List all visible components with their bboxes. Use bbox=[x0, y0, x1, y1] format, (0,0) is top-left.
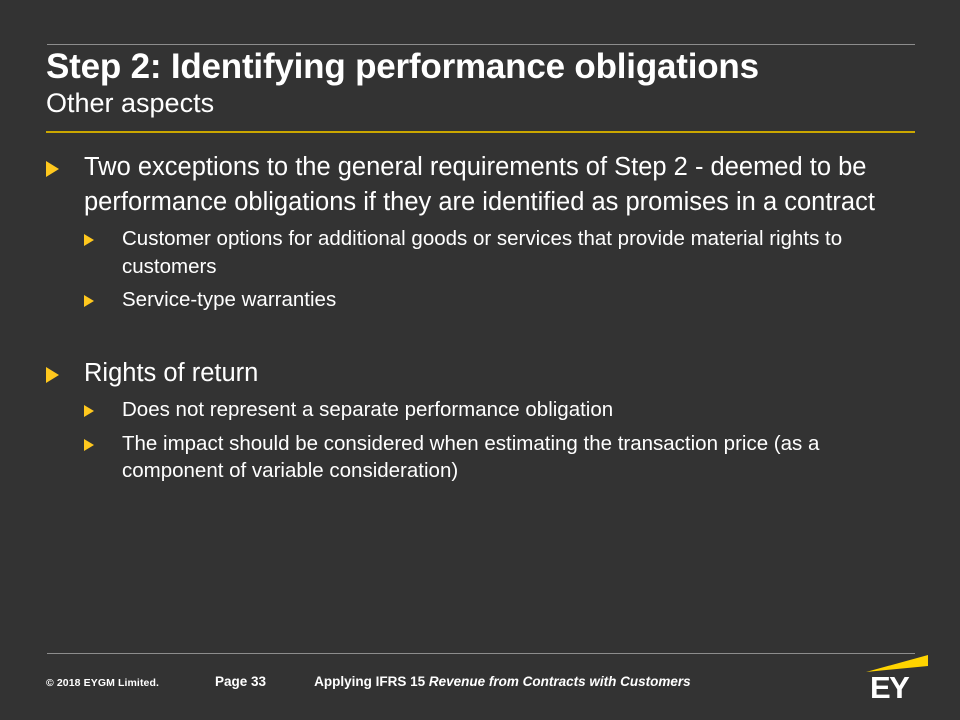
title-block: Step 2: Identifying performance obligati… bbox=[46, 48, 926, 120]
bullet-marker-wrap bbox=[84, 430, 122, 451]
slide: Step 2: Identifying performance obligati… bbox=[0, 0, 960, 720]
footer-divider bbox=[47, 653, 915, 654]
bullet-level2-group: Does not represent a separate performanc… bbox=[84, 396, 916, 484]
bullet-level2-text: The impact should be considered when est… bbox=[122, 430, 912, 485]
bullet-level2: The impact should be considered when est… bbox=[84, 430, 916, 485]
triangle-bullet-icon bbox=[84, 295, 94, 307]
ey-logo: EY bbox=[866, 655, 934, 705]
page-title: Step 2: Identifying performance obligati… bbox=[46, 48, 926, 86]
triangle-bullet-icon bbox=[84, 405, 94, 417]
bullet-level2-text: Customer options for additional goods or… bbox=[122, 225, 912, 280]
bullet-level2-text: Does not represent a separate performanc… bbox=[122, 396, 912, 423]
bullet-level1-text: Rights of return bbox=[84, 356, 916, 391]
document-reference: Applying IFRS 15 Revenue from Contracts … bbox=[314, 674, 691, 689]
header-top-divider bbox=[47, 44, 915, 45]
bullet-marker-wrap bbox=[84, 286, 122, 307]
bullet-marker-wrap bbox=[46, 356, 84, 383]
footer: © 2018 EYGM Limited. Page 33 Applying IF… bbox=[46, 674, 826, 694]
bullet-marker-wrap bbox=[84, 225, 122, 246]
triangle-bullet-icon bbox=[46, 161, 59, 177]
bullet-level1: Rights of return bbox=[46, 356, 916, 391]
triangle-bullet-icon bbox=[84, 439, 94, 451]
bullet-level1-text: Two exceptions to the general requiremen… bbox=[84, 150, 899, 219]
section-spacer bbox=[46, 320, 916, 356]
bullet-level2-group: Customer options for additional goods or… bbox=[84, 225, 916, 313]
triangle-bullet-icon bbox=[84, 234, 94, 246]
page-subtitle: Other aspects bbox=[46, 88, 926, 120]
bullet-level2: Customer options for additional goods or… bbox=[84, 225, 916, 280]
bullet-level1: Two exceptions to the general requiremen… bbox=[46, 150, 916, 219]
page-number: Page 33 bbox=[215, 674, 266, 689]
document-reference-title: Revenue from Contracts with Customers bbox=[429, 674, 691, 689]
bullet-level2-text: Service-type warranties bbox=[122, 286, 912, 313]
ey-wordmark: EY bbox=[870, 672, 908, 703]
title-gold-divider bbox=[46, 131, 915, 133]
bullet-marker-wrap bbox=[46, 150, 84, 177]
bullet-level2: Does not represent a separate performanc… bbox=[84, 396, 916, 423]
bullet-marker-wrap bbox=[84, 396, 122, 417]
document-reference-prefix: Applying IFRS 15 bbox=[314, 674, 429, 689]
triangle-bullet-icon bbox=[46, 367, 59, 383]
bullet-level2: Service-type warranties bbox=[84, 286, 916, 313]
copyright-text: © 2018 EYGM Limited. bbox=[46, 677, 159, 689]
content-body: Two exceptions to the general requiremen… bbox=[46, 150, 916, 491]
